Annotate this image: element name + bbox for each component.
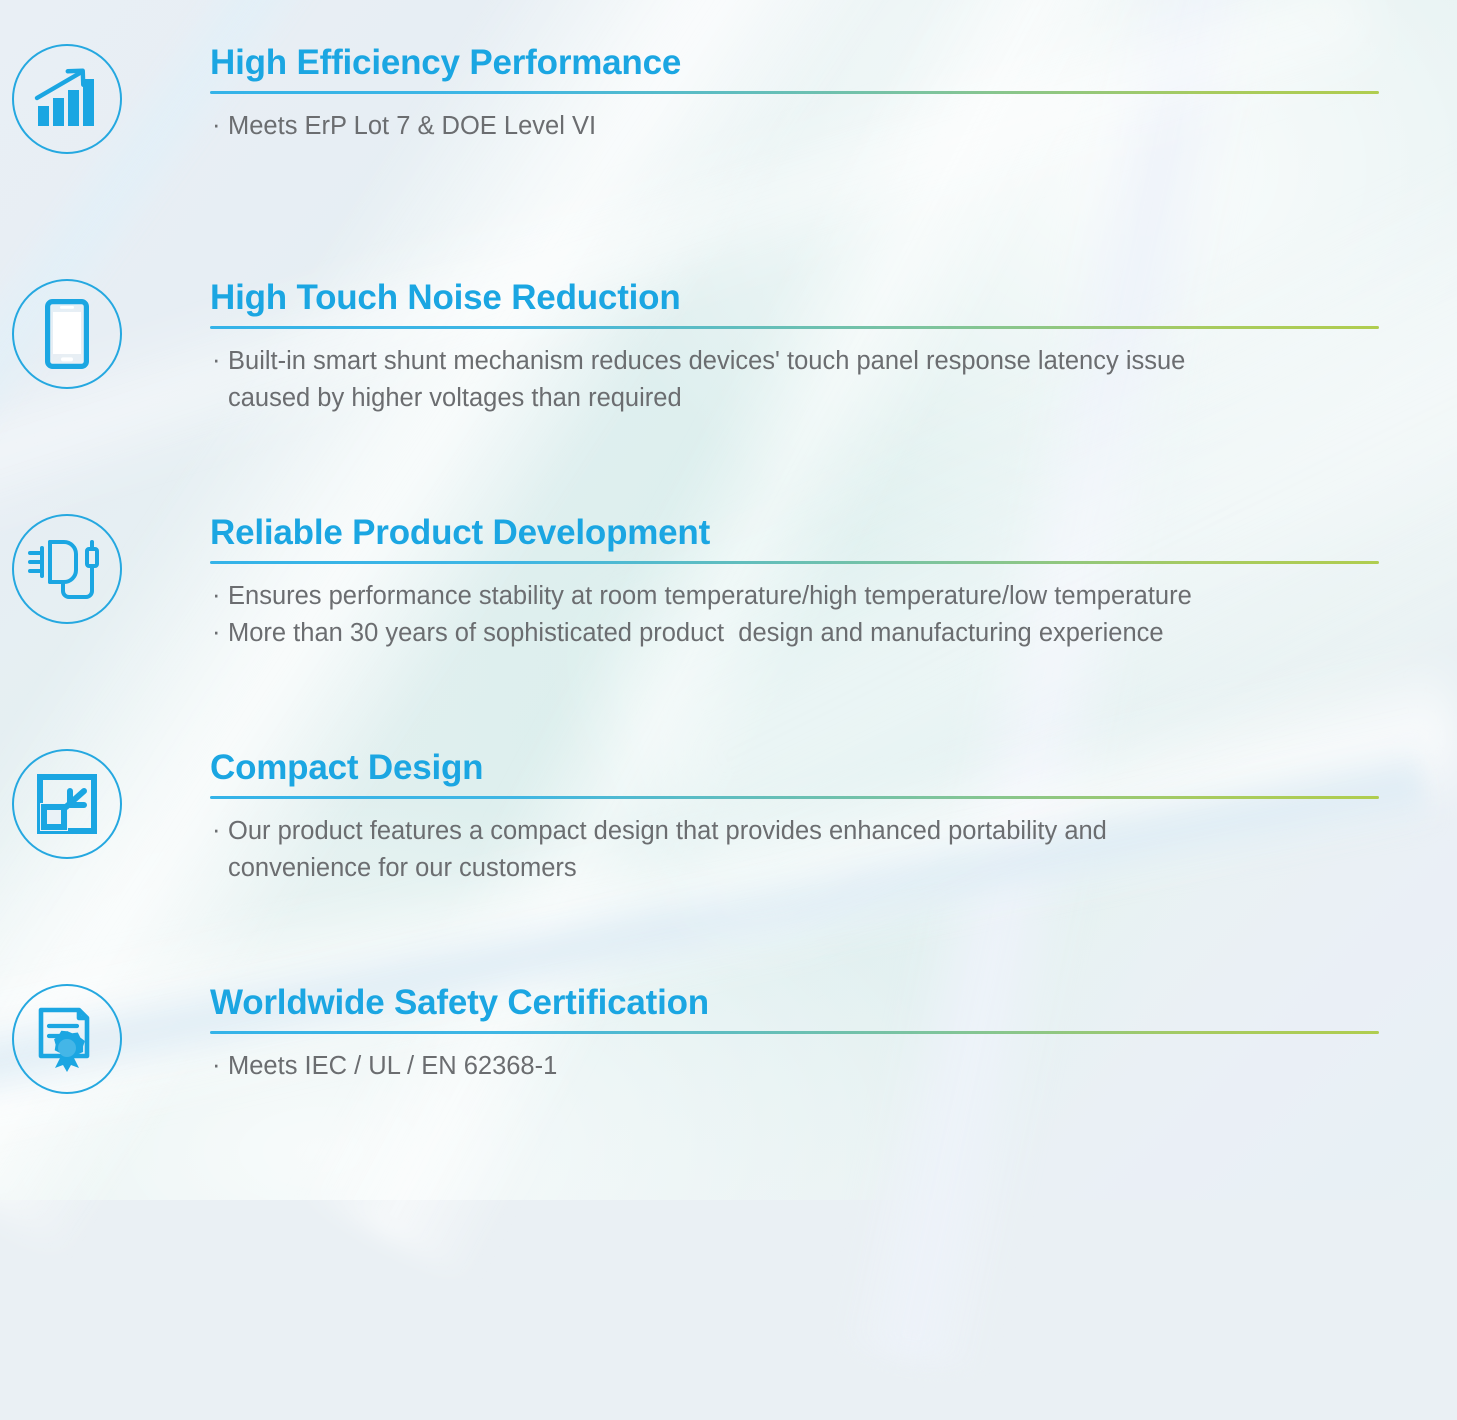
growth-bar-chart-icon xyxy=(34,68,100,130)
feature-bullet-list: Ensures performance stability at room te… xyxy=(210,578,1379,651)
feature-item: Reliable Product Development Ensures per… xyxy=(0,514,1457,651)
certificate-seal-icon xyxy=(35,1006,99,1072)
feature-bullet-continuation: convenience for our customers xyxy=(210,850,1379,887)
feature-icon-container xyxy=(0,984,126,1094)
compact-shrink-icon xyxy=(36,773,98,835)
feature-bullet: Meets ErP Lot 7 & DOE Level VI xyxy=(210,108,1379,145)
feature-bullet: Our product features a compact design th… xyxy=(210,813,1379,850)
feature-divider xyxy=(210,1031,1379,1034)
feature-bullet-continuation: caused by higher voltages than required xyxy=(210,380,1379,417)
feature-item: High Touch Noise Reduction Built-in smar… xyxy=(0,279,1457,416)
feature-title: High Efficiency Performance xyxy=(210,44,1379,82)
feature-divider xyxy=(210,326,1379,329)
feature-bullet: Built-in smart shunt mechanism reduces d… xyxy=(210,343,1379,380)
feature-divider xyxy=(210,561,1379,564)
feature-icon-container xyxy=(0,749,126,859)
feature-item: Worldwide Safety Certification Meets IEC… xyxy=(0,984,1457,1094)
feature-icon-container xyxy=(0,514,126,624)
feature-bullet: More than 30 years of sophisticated prod… xyxy=(210,615,1379,652)
icon-circle-border xyxy=(12,749,122,859)
feature-text-block: High Efficiency Performance Meets ErP Lo… xyxy=(126,44,1457,145)
feature-title: High Touch Noise Reduction xyxy=(210,279,1379,317)
feature-divider xyxy=(210,796,1379,799)
feature-icon-container xyxy=(0,279,126,389)
feature-divider xyxy=(210,91,1379,94)
feature-bullet-list: Meets IEC / UL / EN 62368-1 xyxy=(210,1048,1379,1085)
feature-bullet-list: Built-in smart shunt mechanism reduces d… xyxy=(210,343,1379,416)
feature-bullet-list: Our product features a compact design th… xyxy=(210,813,1379,886)
feature-text-block: Compact Design Our product features a co… xyxy=(126,749,1457,886)
feature-text-block: Worldwide Safety Certification Meets IEC… xyxy=(126,984,1457,1085)
feature-title: Compact Design xyxy=(210,749,1379,787)
feature-item: High Efficiency Performance Meets ErP Lo… xyxy=(0,44,1457,154)
icon-circle-border xyxy=(12,984,122,1094)
feature-text-block: High Touch Noise Reduction Built-in smar… xyxy=(126,279,1457,416)
icon-circle-border xyxy=(12,44,122,154)
feature-item: Compact Design Our product features a co… xyxy=(0,749,1457,886)
feature-text-block: Reliable Product Development Ensures per… xyxy=(126,514,1457,651)
feature-list: High Efficiency Performance Meets ErP Lo… xyxy=(0,0,1457,1200)
icon-circle-border xyxy=(12,279,122,389)
power-adapter-icon xyxy=(28,536,106,602)
feature-title: Reliable Product Development xyxy=(210,514,1379,552)
feature-bullet: Ensures performance stability at room te… xyxy=(210,578,1379,615)
icon-circle-border xyxy=(12,514,122,624)
feature-bullet: Meets IEC / UL / EN 62368-1 xyxy=(210,1048,1379,1085)
smartphone-icon xyxy=(45,299,89,369)
feature-title: Worldwide Safety Certification xyxy=(210,984,1379,1022)
feature-bullet-list: Meets ErP Lot 7 & DOE Level VI xyxy=(210,108,1379,145)
feature-icon-container xyxy=(0,44,126,154)
